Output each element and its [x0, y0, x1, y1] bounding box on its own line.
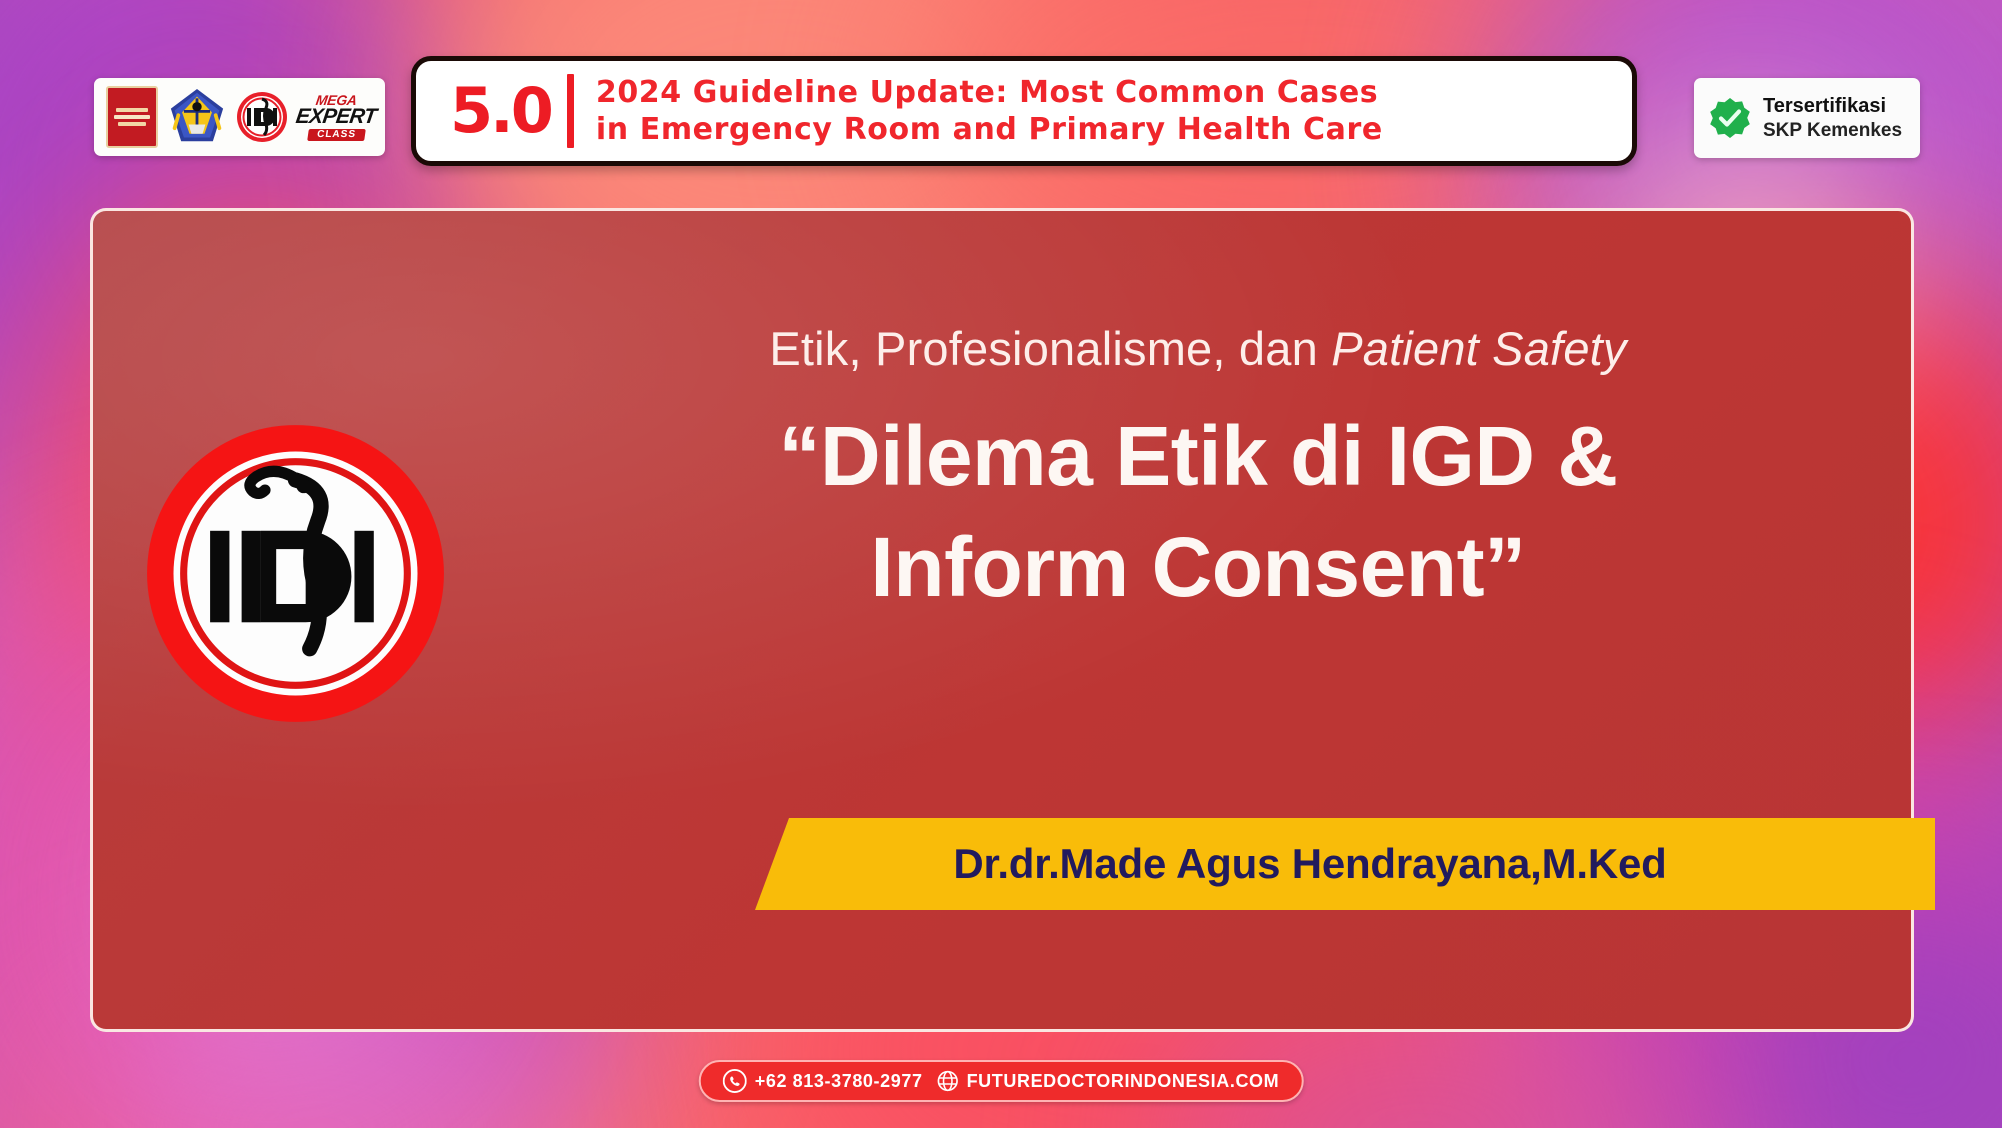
phone-contact[interactable]: +62 813-3780-2977 [723, 1069, 923, 1093]
event-title-line2: in Emergency Room and Primary Health Car… [596, 114, 1383, 146]
headings-block: Etik, Profesionalisme, dan Patient Safet… [553, 323, 1843, 622]
page-title-line2: Inform Consent” [553, 512, 1843, 623]
event-title-pill: 5.0 2024 Guideline Update: Most Common C… [411, 56, 1637, 166]
website-url: FUTUREDOCTORINDONESIA.COM [967, 1071, 1280, 1092]
certification-badge: Tersertifikasi SKP Kemenkes [1694, 78, 1920, 158]
mega-expert-class-logo: MEGA EXPERT CLASS [299, 87, 373, 147]
event-version: 5.0 [450, 80, 567, 142]
certification-line1: Tersertifikasi [1763, 94, 1902, 118]
globe-icon [937, 1070, 959, 1092]
page-title: “Dilema Etik di IGD & Inform Consent” [553, 401, 1843, 623]
page-title-line1: “Dilema Etik di IGD & [553, 401, 1843, 512]
contact-footer: +62 813-3780-2977 FUTUREDOCTORINDONESIA.… [699, 1060, 1304, 1102]
idi-logo-small-icon [236, 91, 288, 143]
whatsapp-icon [723, 1069, 747, 1093]
subtitle-plain: Etik, Profesionalisme, dan [769, 322, 1331, 375]
speaker-name: Dr.dr.Made Agus Hendrayana,M.Ked [953, 840, 1666, 888]
partner-logo-strip: MEGA EXPERT CLASS [94, 78, 385, 156]
future-doctor-logo-icon [106, 86, 158, 148]
top-bar: MEGA EXPERT CLASS 5.0 2024 Guideline Upd… [0, 0, 2002, 168]
certification-line2: SKP Kemenkes [1763, 119, 1902, 142]
event-title-line1: 2024 Guideline Update: Most Common Cases [596, 77, 1383, 109]
website-contact[interactable]: FUTUREDOCTORINDONESIA.COM [937, 1070, 1280, 1092]
garuda-pancasila-logo-icon [169, 87, 225, 147]
verified-check-icon [1708, 96, 1752, 140]
mega-logo-line3: CLASS [307, 129, 366, 141]
speaker-banner: Dr.dr.Made Agus Hendrayana,M.Ked [755, 818, 1935, 910]
pill-divider [567, 74, 574, 148]
subtitle-italic: Patient Safety [1331, 322, 1626, 375]
mega-logo-line2: EXPERT [295, 106, 378, 127]
subtitle: Etik, Profesionalisme, dan Patient Safet… [553, 323, 1843, 375]
idi-logo-icon [143, 421, 448, 726]
phone-number: +62 813-3780-2977 [755, 1071, 923, 1092]
